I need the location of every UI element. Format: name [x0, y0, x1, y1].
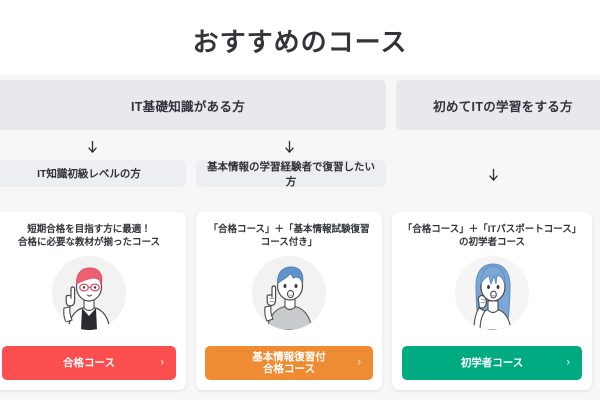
course-cta-label: 基本情報復習付 合格コース	[252, 351, 326, 376]
page-title: おすすめのコース	[0, 22, 600, 59]
group-header-label: 初めてITの学習をする方	[433, 96, 573, 115]
course-cta-button-fe-review[interactable]: 基本情報復習付 合格コース ›	[205, 346, 373, 380]
arrow-down-icon	[484, 166, 502, 184]
group-header-first-time-it: 初めてITの学習をする方	[396, 80, 600, 130]
arrow-down-icon	[83, 138, 101, 156]
course-cta-button-goukaku[interactable]: 合格コース ›	[2, 346, 176, 380]
course-card-description: 「合格コース」＋「ITパスポートコース」の初学者コース	[392, 223, 592, 250]
person-pointing-up-icon	[52, 256, 126, 330]
chevron-right-icon: ›	[357, 357, 361, 370]
sub-condition-label: IT知識初級レベルの方	[37, 166, 141, 181]
group-header-has-it-basics: IT基礎知識がある方	[0, 80, 386, 130]
course-card-description: 「合格コース」＋「基本情報試験復習コース付き」	[196, 223, 382, 250]
person-pointing-up-icon	[252, 256, 326, 330]
group-header-label: IT基礎知識がある方	[131, 96, 245, 115]
recommended-courses-page: おすすめのコース IT基礎知識がある方 初めてITの学習をする方 IT知識初級レ…	[0, 0, 600, 400]
course-card-fe-review[interactable]: 「合格コース」＋「基本情報試験復習コース付き」	[196, 212, 382, 390]
sub-condition-it-beginner-level: IT知識初級レベルの方	[0, 160, 186, 187]
chevron-right-icon: ›	[160, 357, 164, 370]
woman-hand-to-chin-icon	[455, 256, 529, 330]
chevron-right-icon: ›	[566, 357, 570, 370]
course-card-goukaku[interactable]: 短期合格を目指す方に最適！ 合格に必要な教材が揃ったコース	[0, 212, 186, 390]
sub-condition-label: 基本情報の学習経験者で復習したい方	[202, 159, 380, 189]
course-cta-label: 初学者コース	[461, 357, 523, 369]
course-card-description: 短期合格を目指す方に最適！ 合格に必要な教材が揃ったコース	[10, 223, 168, 250]
course-cta-label: 合格コース	[63, 357, 115, 369]
sub-condition-fe-review: 基本情報の学習経験者で復習したい方	[196, 160, 386, 187]
course-card-shogakusha[interactable]: 「合格コース」＋「ITパスポートコース」の初学者コース	[392, 212, 592, 390]
course-cta-button-shogakusha[interactable]: 初学者コース ›	[402, 346, 582, 380]
arrow-down-icon	[280, 138, 298, 156]
